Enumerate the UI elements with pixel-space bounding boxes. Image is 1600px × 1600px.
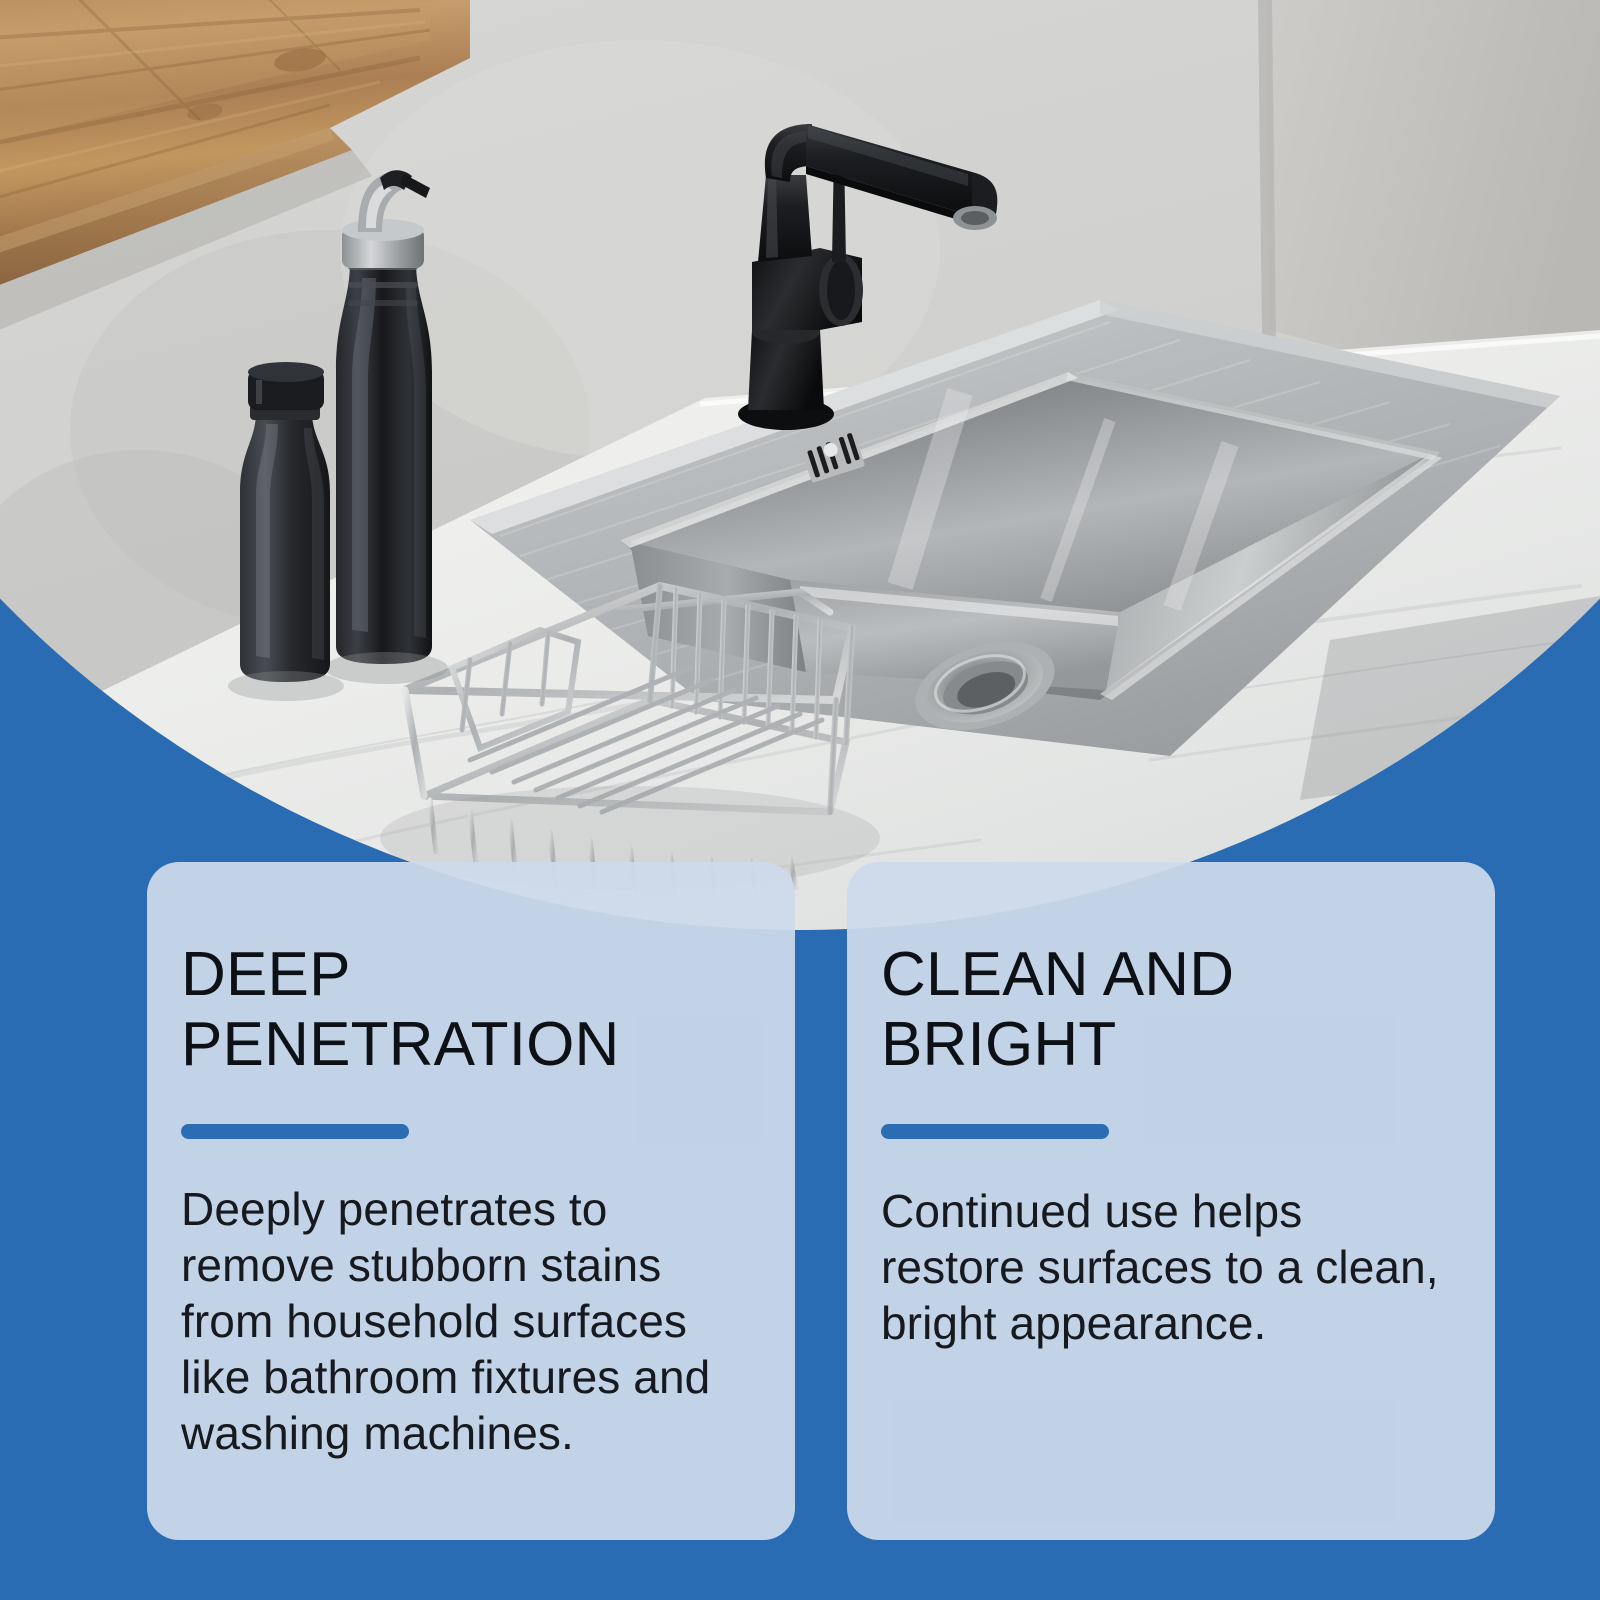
card-body: Deeply penetrates to remove stubborn sta… (181, 1181, 755, 1461)
accent-bar (881, 1124, 1109, 1139)
card-title: CLEAN AND BRIGHT (881, 940, 1455, 1080)
accent-bar (181, 1124, 409, 1139)
feature-card-deep-penetration: DEEP PENETRATION Deeply penetrates to re… (147, 862, 795, 1540)
product-feature-banner: DEEP PENETRATION Deeply penetrates to re… (0, 0, 1600, 1600)
feature-card-clean-and-bright: CLEAN AND BRIGHT Continued use helps res… (847, 862, 1495, 1540)
card-title: DEEP PENETRATION (181, 940, 755, 1080)
card-body: Continued use helps restore surfaces to … (881, 1183, 1455, 1351)
